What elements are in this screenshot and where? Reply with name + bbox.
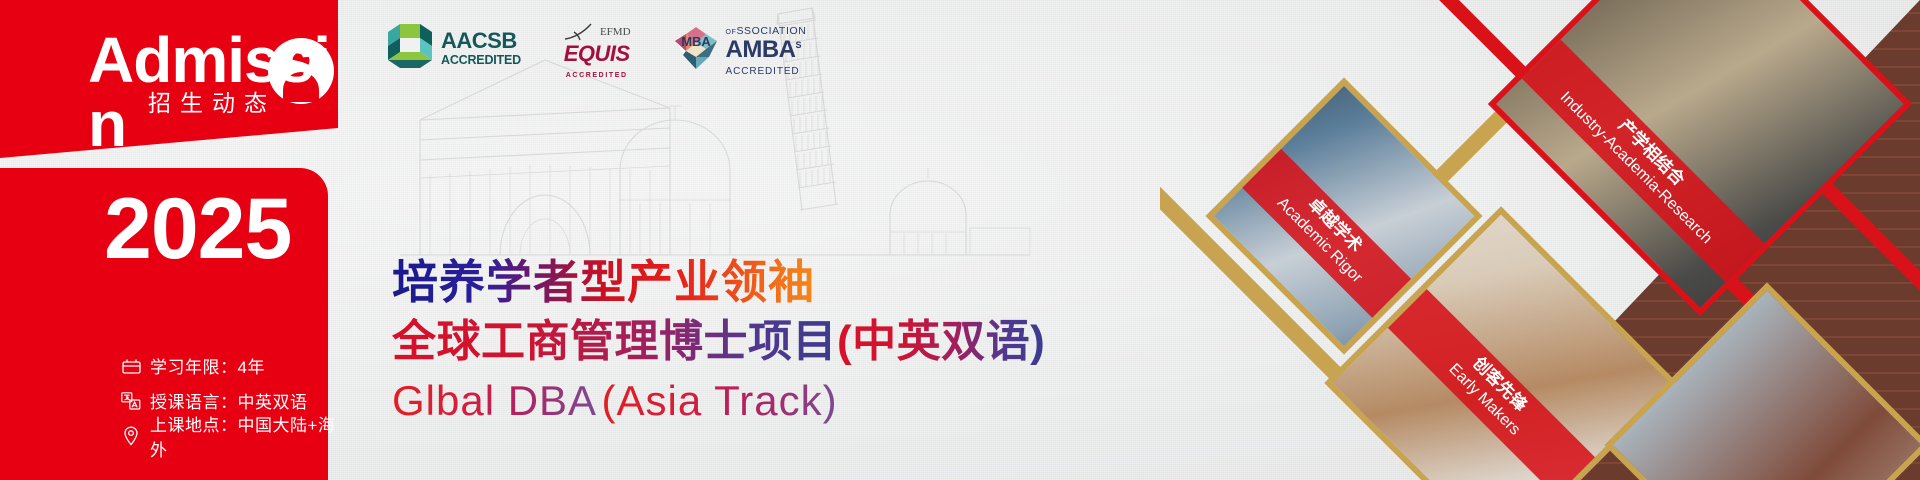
tagline: 培养学者型产业领袖 [392,258,1045,306]
location-pin-icon [118,426,144,446]
meta-item-location-label: 上课地点：中国大陆+海外 [150,411,340,461]
program-en-line: Glbal DBA (Asia Track) [392,367,1045,425]
amba-text: OFSSOCIATION AMBAS ACCREDITED [726,22,807,78]
accreditation-logo-row: AACSB ACCREDITED EFMD EQUIS ACCREDITED [386,22,806,81]
svg-text:MBA: MBA [681,34,711,49]
meta-item-location: 上课地点：中国大陆+海外 [118,418,340,453]
meta-item-language-label: 授课语言：中英双语 [150,388,308,413]
amba-logo-icon: MBA [673,25,719,76]
amba-of-label: OF [726,29,737,36]
program-title-cn: 全球工商管理博士项目 [392,318,837,366]
equis-name: EQUIS [564,41,630,66]
accreditation-aacsb: AACSB ACCREDITED [386,22,521,75]
equis-subtitle: ACCREDITED [566,72,628,79]
photo-collage: 卓越学术 Academic Rigor 产学相结合 Industry-Acade… [1160,0,1920,480]
program-title-en-paren: (Asia Track) [602,377,838,425]
equis-text: EFMD EQUIS ACCREDITED [563,22,631,81]
program-title-cn-paren: (中英双语) [837,318,1045,366]
aacsb-name: AACSB [441,28,517,53]
amba-name: AMBAS [726,36,802,63]
program-meta-list: 学习年限：4年 授课语言：中英双语 [118,348,340,453]
aacsb-subtitle: ACCREDITED [441,53,521,67]
aacsb-logo-icon [386,22,434,75]
language-icon [118,391,144,411]
admission-title-cn: 招生动态 [148,84,276,118]
program-title-en: Glbal DBA [392,377,597,425]
program-cn-line: 全球工商管理博士项目(中英双语) [392,306,1045,366]
amba-name-text: AMBA [726,36,796,63]
meta-item-duration-label: 学习年限：4年 [150,353,265,378]
admissions-banner: Admissi n 招生动态 2025 学习年限：4年 [0,0,1920,480]
amba-subtitle: ACCREDITED [726,66,800,77]
accreditation-equis: EFMD EQUIS ACCREDITED [563,22,631,81]
headline-block: 培养学者型产业领袖 全球工商管理博士项目(中英双语) Glbal DBA (As… [392,258,1045,425]
meta-item-duration: 学习年限：4年 [118,348,340,383]
efmd-line: EFMD [563,22,631,42]
efmd-label: EFMD [600,27,631,38]
calendar-icon [118,356,144,376]
efmd-swoosh-icon [563,22,597,42]
left-red-panel: Admissi n 招生动态 2025 学习年限：4年 [0,0,340,480]
aacsb-text: AACSB ACCREDITED [441,30,521,68]
year-label: 2025 [104,186,291,272]
accreditation-amba: MBA OFSSOCIATION AMBAS ACCREDITED [673,22,807,78]
